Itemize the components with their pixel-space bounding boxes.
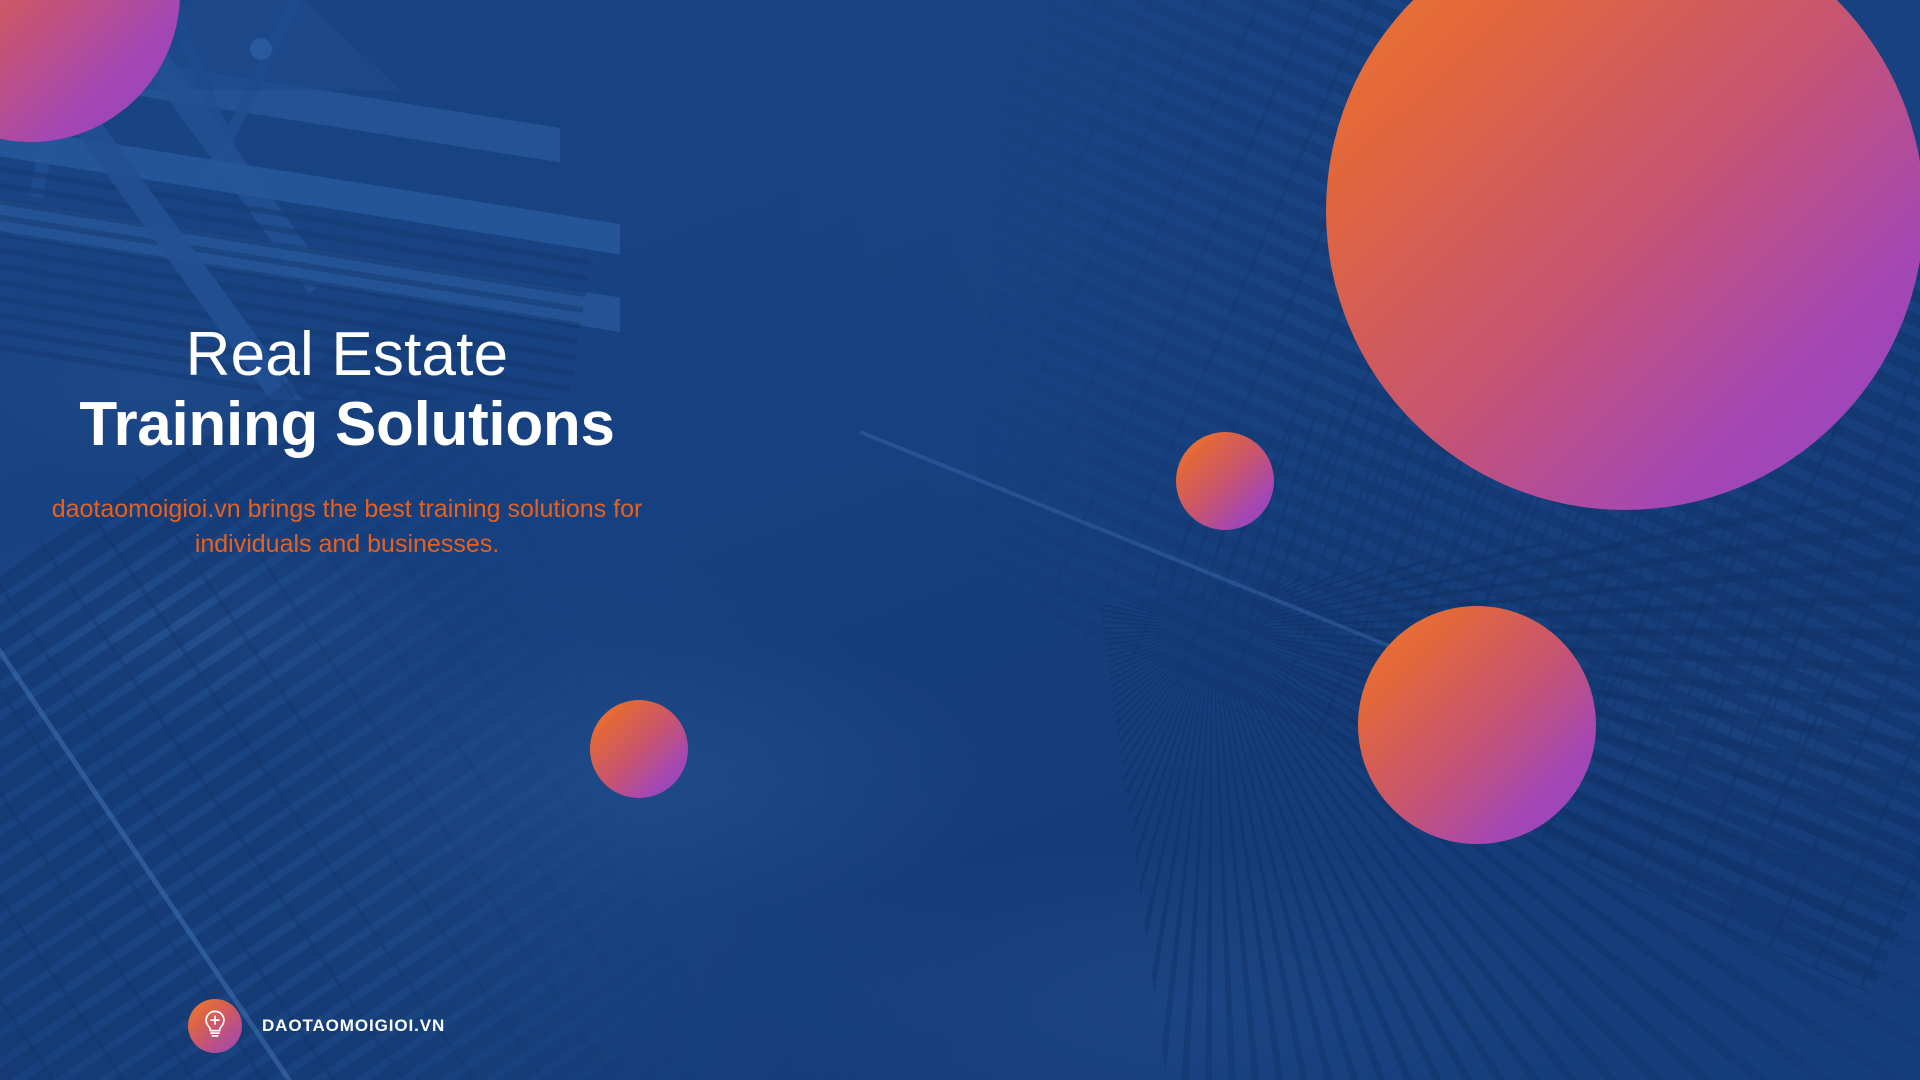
brand-name-label: DAOTAOMOIGIOI.VN <box>262 1016 445 1036</box>
hero-subtitle: daotaomoigioi.vn brings the best trainin… <box>40 492 654 563</box>
decorative-circle-small-right <box>1176 432 1274 530</box>
page-title-line-2: Training Solutions <box>40 390 654 459</box>
decorative-circle-mid-right <box>1358 606 1596 844</box>
decorative-circle-small-left <box>590 700 688 798</box>
page-title-line-1: Real Estate <box>40 322 654 388</box>
hero-text-block: Real Estate Training Solutions daotaomoi… <box>40 322 654 563</box>
promo-banner: Real Estate Training Solutions daotaomoi… <box>0 0 1920 1080</box>
brand-lockup[interactable]: DAOTAOMOIGIOI.VN <box>188 999 445 1053</box>
lightbulb-plus-icon <box>201 1009 229 1044</box>
brand-logo-badge <box>188 999 242 1053</box>
